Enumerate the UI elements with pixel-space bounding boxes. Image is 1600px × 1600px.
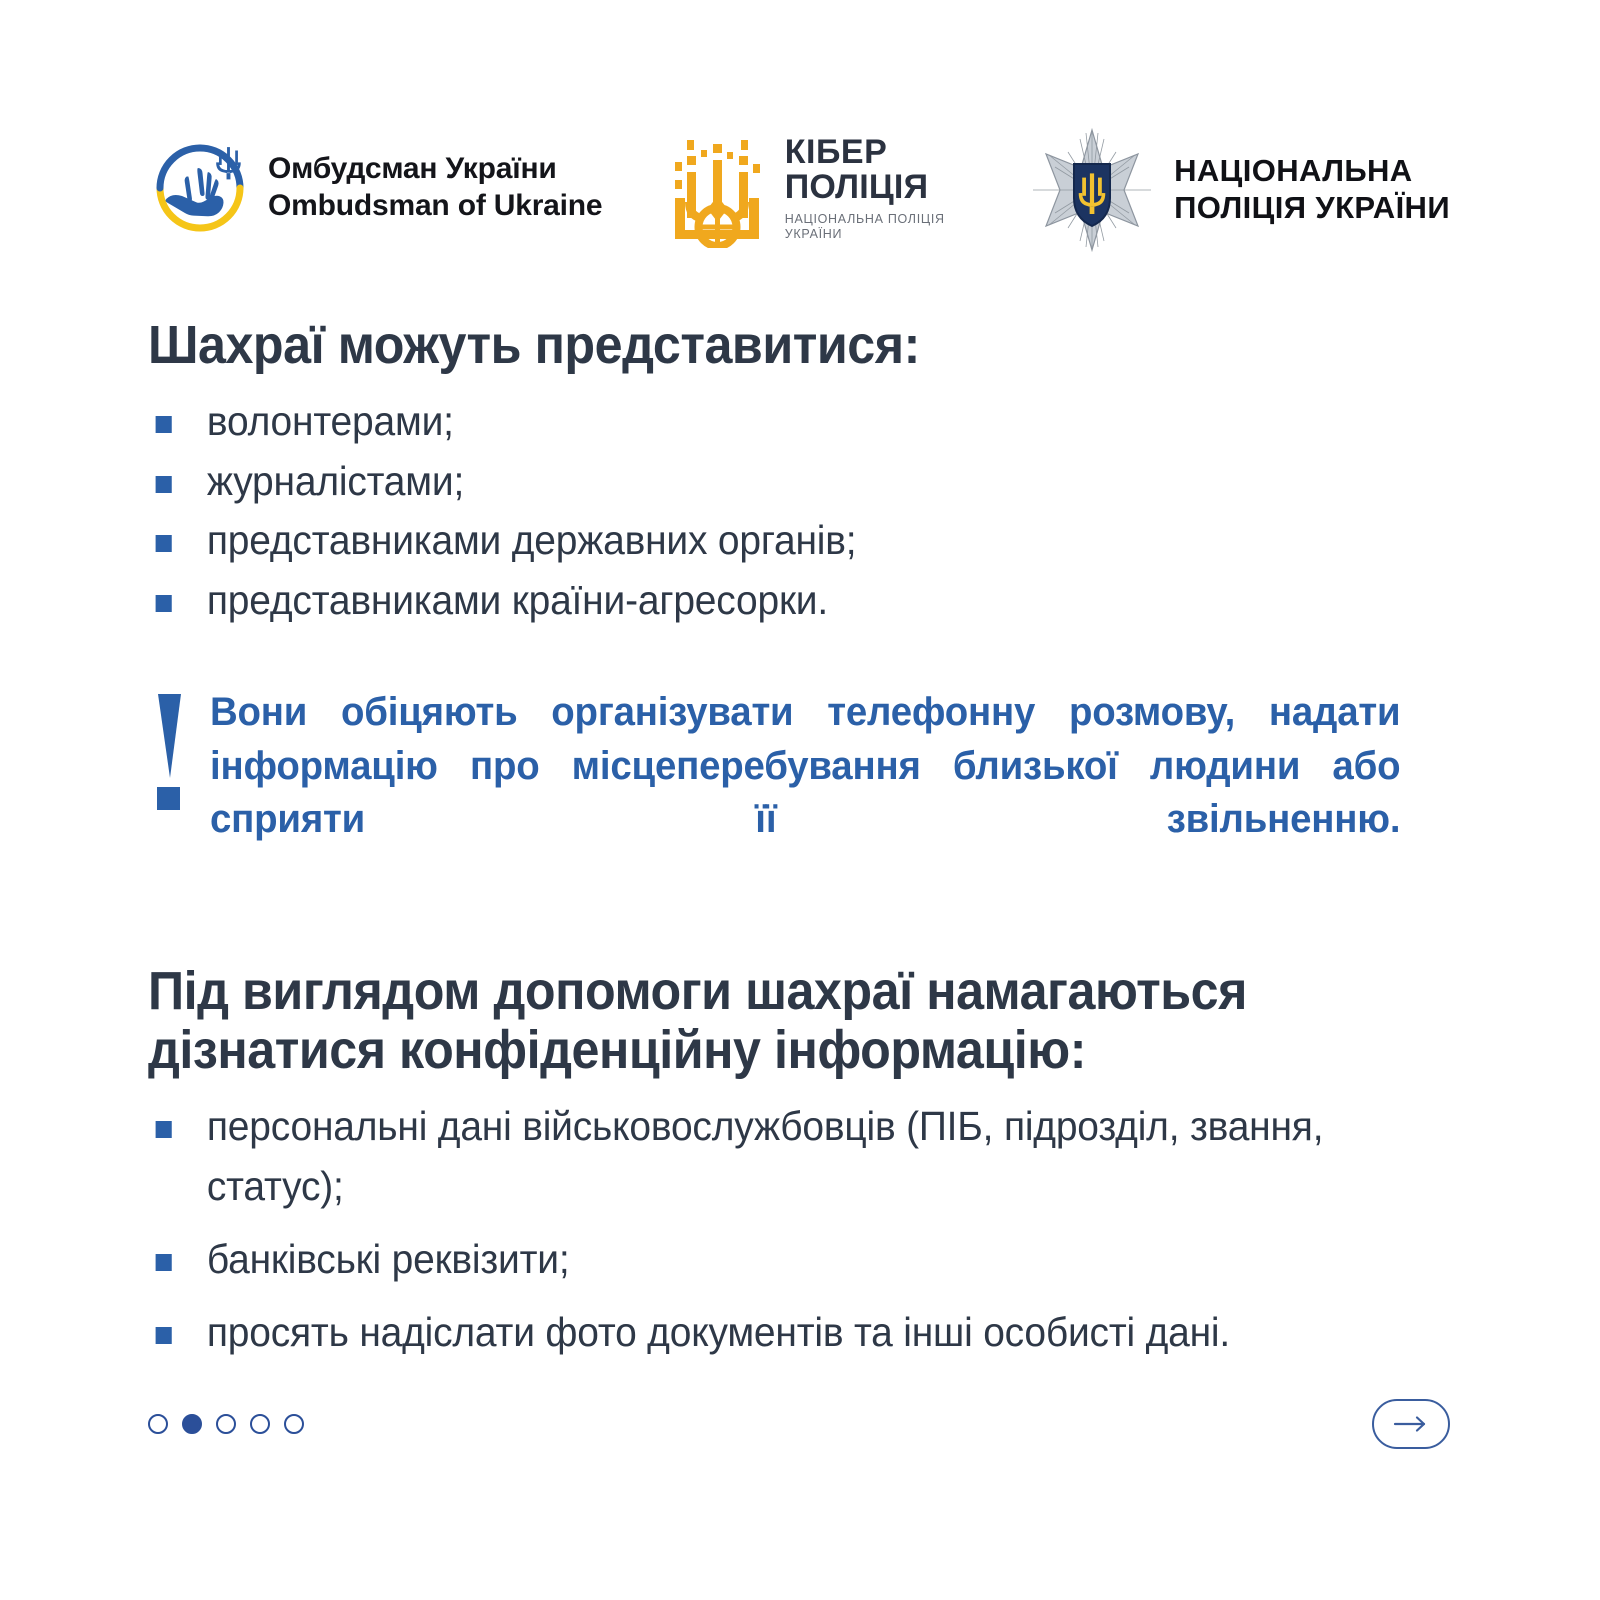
next-slide-button[interactable]	[1372, 1399, 1450, 1449]
list-item: журналістами;	[148, 452, 1385, 511]
cyber-trident-icon	[663, 130, 771, 248]
list-item-label: банківські реквізити;	[207, 1236, 570, 1282]
list-item-label: волонтерами;	[207, 398, 454, 444]
bullet-square-icon	[156, 476, 172, 493]
list-item: банківські реквізити;	[148, 1230, 1385, 1289]
list-item-label: просять надіслати фото документів та інш…	[207, 1309, 1230, 1355]
bullet-square-icon	[156, 1327, 172, 1344]
list-item: персональні дані військовослужбовців (ПІ…	[148, 1097, 1385, 1216]
ombudsman-wordmark: Омбудсман України Ombudsman of Ukraine	[268, 151, 602, 224]
list-item-label: персональні дані військовослужбовців (ПІ…	[207, 1103, 1323, 1208]
pagination-dot-2[interactable]	[182, 1414, 202, 1434]
list-item-label: представниками державних органів;	[207, 517, 856, 563]
slide-footer	[148, 1396, 1450, 1452]
exclamation-mark-icon	[156, 694, 182, 810]
list-item: представниками державних органів;	[148, 511, 1385, 570]
list-item: волонтерами;	[148, 392, 1385, 451]
national-police-line1: НАЦІОНАЛЬНА	[1174, 153, 1450, 190]
logo-cyberpolice: КІБЕР ПОЛІЦІЯ НАЦІОНАЛЬНА ПОЛІЦІЯ УКРАЇН…	[663, 130, 970, 248]
section2-heading: Під виглядом допомоги шахраї намагаються…	[148, 962, 1359, 1079]
cyberpolice-name-line1: КІБЕР	[785, 135, 970, 170]
list-item-label: журналістами;	[207, 458, 464, 504]
logo-ombudsman: Омбудсман України Ombudsman of Ukraine	[148, 134, 602, 242]
bullet-square-icon	[156, 1121, 172, 1138]
list-item-label: представниками країни-агресорки.	[207, 577, 828, 623]
ombudsman-name-uk: Омбудсман України	[268, 151, 602, 188]
section1-bullet-list: волонтерами; журналістами; представникам…	[148, 392, 1450, 630]
ombudsman-name-en: Ombudsman of Ukraine	[268, 188, 602, 225]
section1-heading: Шахраї можуть представитися:	[148, 316, 1359, 374]
bullet-square-icon	[156, 1254, 172, 1271]
police-star-badge-icon	[1030, 128, 1154, 252]
warning-callout-text: Вони обіцяють організувати телефонну роз…	[210, 686, 1400, 900]
cyberpolice-wordmark: КІБЕР ПОЛІЦІЯ НАЦІОНАЛЬНА ПОЛІЦІЯ УКРАЇН…	[785, 135, 970, 243]
list-item: представниками країни-агресорки.	[148, 571, 1385, 630]
ombudsman-hand-emblem-icon	[148, 134, 252, 242]
logo-national-police: НАЦІОНАЛЬНА ПОЛІЦІЯ УКРАЇНИ	[1030, 128, 1450, 252]
slide-canvas: Омбудсман України Ombudsman of Ukraine	[0, 0, 1600, 1600]
slide-content: Шахраї можуть представитися: волонтерами…	[148, 316, 1450, 1377]
bullet-square-icon	[156, 535, 172, 552]
pagination-dot-1[interactable]	[148, 1414, 168, 1434]
section2-bullet-list: персональні дані військовослужбовців (ПІ…	[148, 1097, 1450, 1363]
national-police-wordmark: НАЦІОНАЛЬНА ПОЛІЦІЯ УКРАЇНИ	[1174, 153, 1450, 226]
cyberpolice-subtitle: НАЦІОНАЛЬНА ПОЛІЦІЯ УКРАЇНИ	[785, 212, 970, 243]
list-item: просять надіслати фото документів та інш…	[148, 1303, 1385, 1362]
pagination-dot-5[interactable]	[284, 1414, 304, 1434]
warning-callout: Вони обіцяють організувати телефонну роз…	[148, 686, 1450, 900]
cyberpolice-name-line2: ПОЛІЦІЯ	[785, 170, 970, 205]
logo-bar: Омбудсман України Ombudsman of Ukraine	[148, 128, 1450, 248]
pagination-dot-4[interactable]	[250, 1414, 270, 1434]
pagination-dots[interactable]	[148, 1414, 304, 1434]
bullet-square-icon	[156, 595, 172, 612]
arrow-right-icon	[1391, 1414, 1431, 1434]
bullet-square-icon	[156, 416, 172, 433]
national-police-line2: ПОЛІЦІЯ УКРАЇНИ	[1174, 190, 1450, 227]
pagination-dot-3[interactable]	[216, 1414, 236, 1434]
